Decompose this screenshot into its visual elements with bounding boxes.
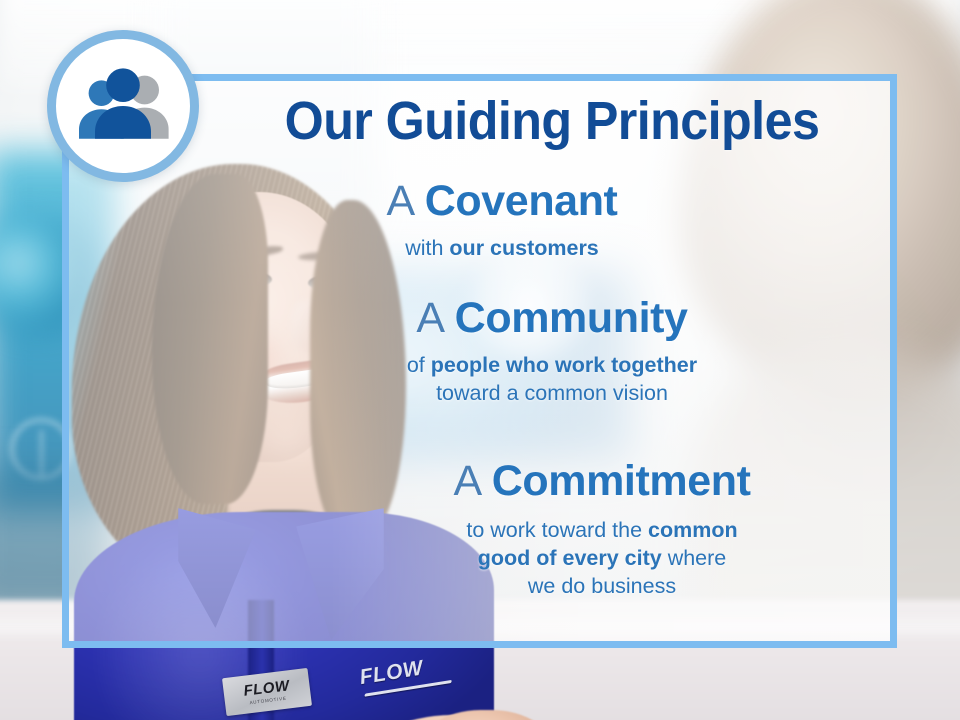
subtext-fragment-bold: our customers (449, 236, 598, 260)
principle-heading: A Commitment (312, 459, 892, 504)
principle-subtext-line: we do business (312, 572, 892, 600)
guiding-principles-graphic: FLOW AUTOMOTIVE FLOW (0, 0, 960, 720)
principle-keyword: Community (455, 294, 688, 342)
principle-subtext: to work toward the common good of every … (312, 516, 892, 601)
principle-block-community: A Community of people who work together … (252, 296, 852, 407)
subtext-fragment: where (662, 546, 727, 570)
principle-subtext: of people who work together toward a com… (252, 351, 852, 408)
principle-heading: A Community (252, 296, 852, 341)
subtext-fragment: we do business (528, 574, 676, 598)
principle-subtext-line: to work toward the common (312, 516, 892, 544)
subtext-fragment: to work toward the (466, 518, 648, 542)
principle-subtext-line: of people who work together (252, 351, 852, 379)
text-content: Our Guiding Principles A Covenant with o… (62, 74, 897, 648)
subtext-fragment-bold: good of every city (478, 546, 662, 570)
principle-subtext-line: toward a common vision (252, 379, 852, 407)
principle-heading: A Covenant (222, 179, 782, 224)
page-title: Our Guiding Principles (245, 94, 859, 149)
subtext-fragment: toward a common vision (436, 381, 668, 405)
principle-subtext-line: good of every city where (312, 544, 892, 572)
principle-keyword: Commitment (492, 457, 751, 505)
principle-article: A (387, 177, 413, 225)
subtext-fragment-bold: people who work together (431, 353, 697, 377)
principle-keyword: Covenant (425, 177, 618, 225)
subtext-fragment-bold: common (648, 518, 738, 542)
principle-subtext: with our customers (222, 234, 782, 262)
principle-article: A (453, 457, 479, 505)
subtext-fragment: of (407, 353, 431, 377)
principle-article: A (416, 294, 442, 342)
subtext-fragment: with (405, 236, 449, 260)
principle-block-covenant: A Covenant with our customers (222, 179, 782, 262)
principle-block-commitment: A Commitment to work toward the common g… (312, 459, 892, 601)
principle-subtext-line: with our customers (222, 234, 782, 262)
